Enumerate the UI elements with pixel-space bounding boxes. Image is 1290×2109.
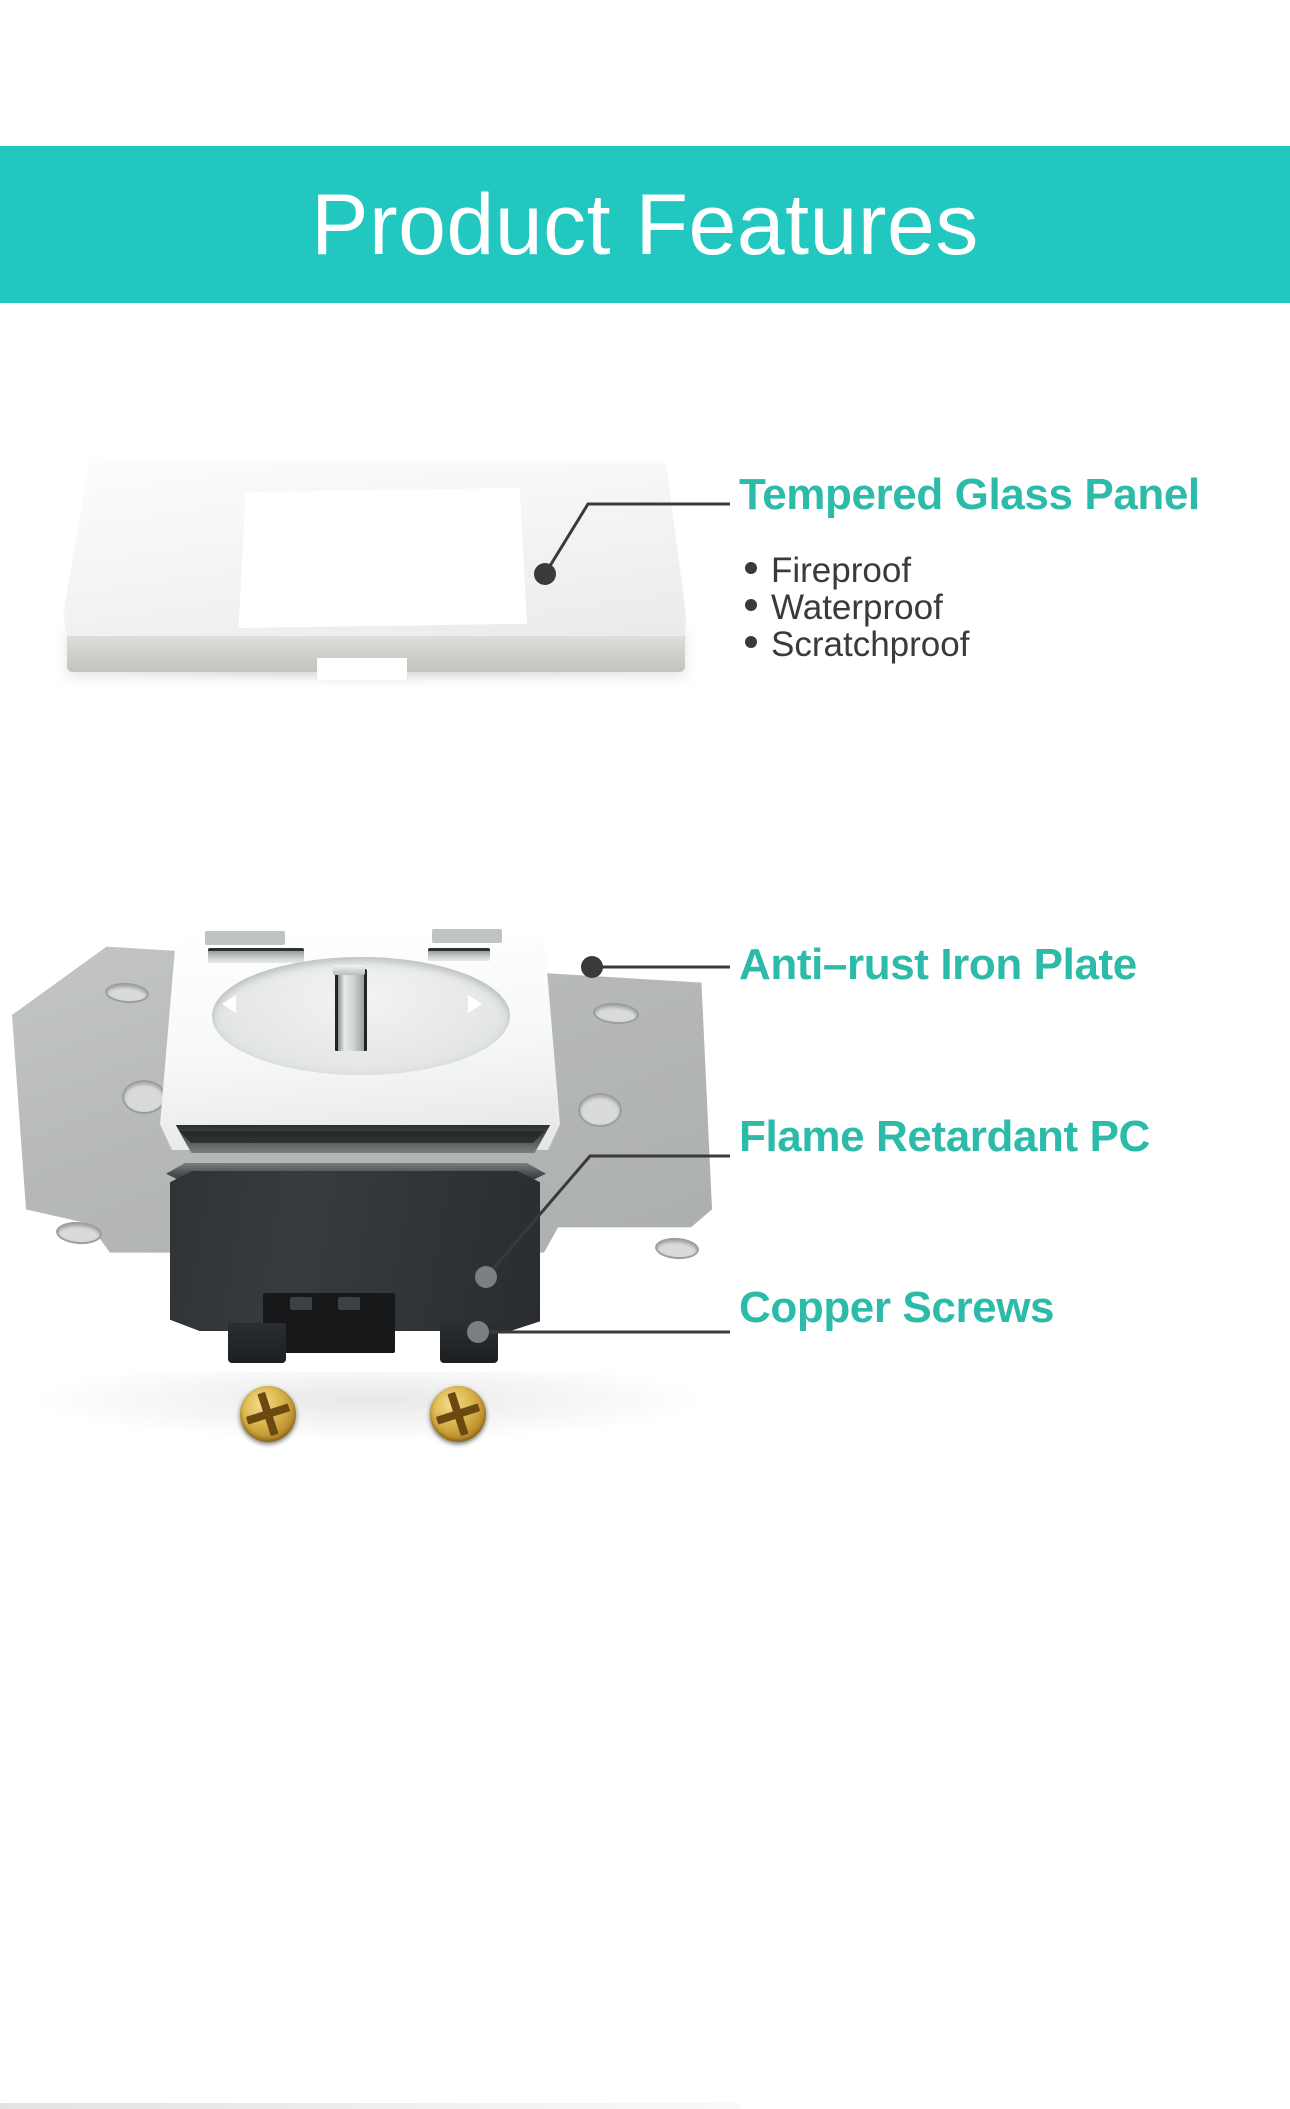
page-title: Product Features	[311, 182, 979, 268]
glass-panel-photo	[45, 440, 705, 740]
socket-earth-notch	[222, 995, 236, 1013]
feature-heading-copper-screws: Copper Screws	[739, 1283, 1054, 1333]
feature-bullet-item: Fireproof	[745, 552, 969, 589]
feature-bullet-list-tempered-glass-panel: Fireproof Waterproof Scratchproof	[745, 552, 969, 663]
feature-heading-tempered-glass-panel: Tempered Glass Panel	[739, 470, 1200, 520]
plate-screw-hole	[578, 1093, 622, 1127]
page-header-banner: Product Features	[0, 146, 1290, 303]
socket-top-tab	[205, 931, 285, 945]
feature-bullet-label: Fireproof	[771, 552, 911, 589]
socket-earth-notch	[468, 995, 482, 1013]
socket-top-tab	[432, 929, 502, 943]
bullet-dot-icon	[745, 599, 757, 611]
feature-bullet-item: Scratchproof	[745, 626, 969, 663]
pc-base-foot	[440, 1323, 498, 1363]
copper-screw-right	[430, 1386, 486, 1442]
socket-assembly-photo	[0, 915, 740, 1395]
glass-panel-cutout	[237, 488, 527, 628]
pc-terminal-slot	[290, 1297, 312, 1310]
glass-panel-notch	[317, 658, 407, 680]
glass-panel-edge-highlight	[63, 456, 687, 466]
feature-bullet-label: Waterproof	[771, 589, 943, 626]
socket-earth-contact-top	[333, 965, 365, 975]
copper-screw-left	[240, 1386, 296, 1442]
feature-bullet-label: Scratchproof	[771, 626, 969, 663]
plate-screw-hole	[654, 1236, 699, 1260]
plate-screw-hole	[122, 1080, 166, 1114]
socket-earth-contact	[335, 969, 367, 1051]
feature-heading-anti-rust-iron-plate: Anti–rust Iron Plate	[739, 940, 1137, 990]
feature-bullet-item: Waterproof	[745, 589, 969, 626]
pc-base-foot	[228, 1323, 286, 1363]
socket-contact-slot	[428, 948, 490, 961]
socket-contact-slot	[208, 948, 304, 963]
socket-module-gap-shadow	[176, 1131, 548, 1143]
bullet-dot-icon	[745, 636, 757, 648]
background-floor-line	[0, 2103, 740, 2109]
feature-heading-flame-retardant-pc: Flame Retardant PC	[739, 1112, 1150, 1162]
bullet-dot-icon	[745, 562, 757, 574]
pc-terminal-slot	[338, 1297, 360, 1310]
